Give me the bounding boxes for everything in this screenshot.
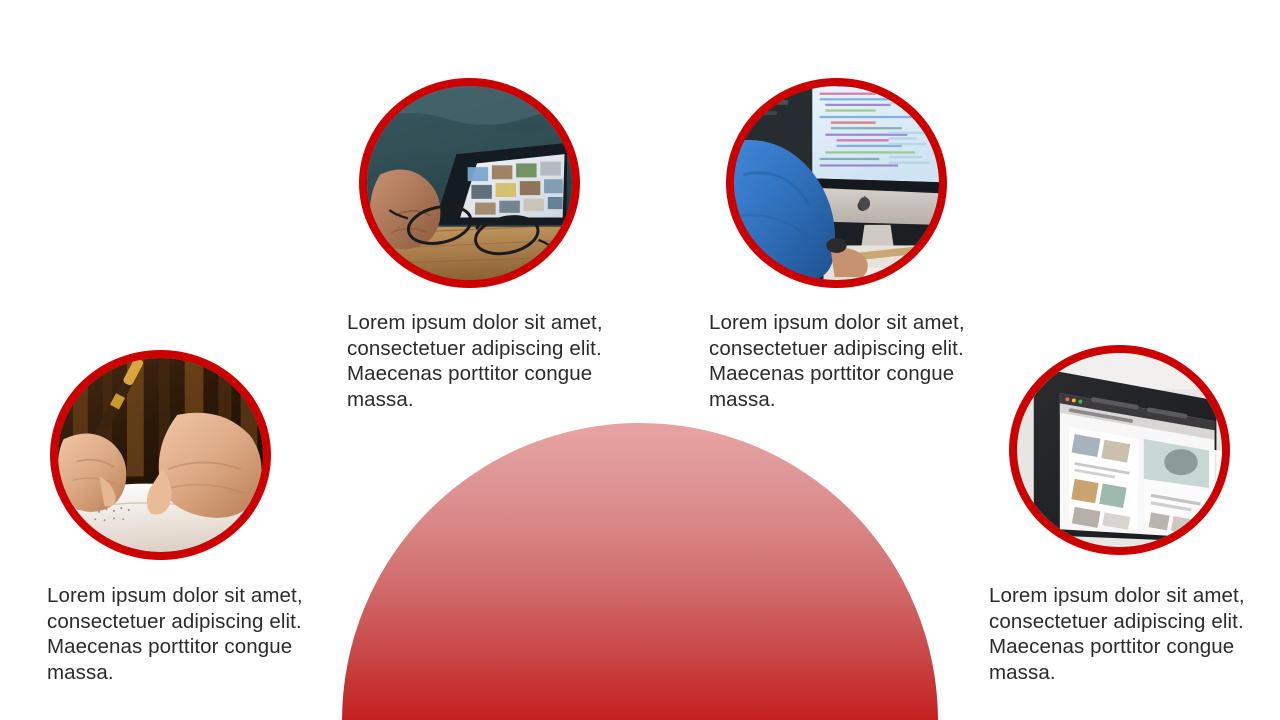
- photo-laptop: [1017, 353, 1222, 547]
- photo-circle-tablet[interactable]: [359, 78, 580, 288]
- caption-tablet: Lorem ipsum dolor sit amet, consectetuer…: [347, 310, 637, 412]
- photo-circle-imac[interactable]: [726, 78, 947, 288]
- photo-imac: [734, 86, 939, 280]
- large-red-dome: [342, 423, 938, 720]
- photo-circle-laptop[interactable]: [1009, 345, 1230, 555]
- photo-writing: [58, 358, 263, 552]
- photo-tablet: [367, 86, 572, 280]
- caption-writing: Lorem ipsum dolor sit amet, consectetuer…: [47, 583, 337, 685]
- caption-imac: Lorem ipsum dolor sit amet, consectetuer…: [709, 310, 999, 412]
- caption-laptop: Lorem ipsum dolor sit amet, consectetuer…: [989, 583, 1279, 685]
- slide-canvas: Lorem ipsum dolor sit amet, consectetuer…: [0, 0, 1280, 720]
- photo-circle-writing[interactable]: [50, 350, 271, 560]
